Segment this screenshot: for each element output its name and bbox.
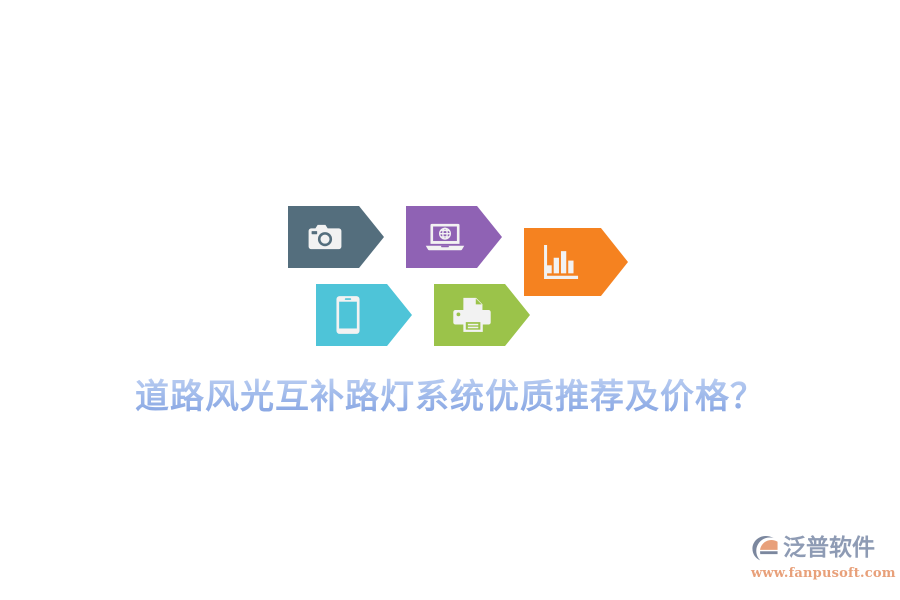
chevron-printer — [434, 284, 530, 346]
laptop-globe-icon — [406, 206, 502, 268]
bar-chart-icon — [524, 228, 628, 296]
watermark: 泛普软件 www.fanpusoft.com — [750, 530, 886, 588]
watermark-brand-text: 泛普软件 — [783, 533, 875, 563]
chevron-camera — [288, 206, 384, 268]
chevron-icon-cluster — [288, 206, 628, 356]
page-canvas: 道路风光互补路灯系统优质推荐及价格？ 泛普软件 www.fanpusoft.co… — [0, 0, 900, 600]
fanpu-logo-icon — [750, 533, 780, 563]
smartphone-icon — [316, 284, 412, 346]
chevron-laptop — [406, 206, 502, 268]
watermark-url-text: www.fanpusoft.com — [750, 566, 886, 582]
watermark-brand-row: 泛普软件 — [750, 530, 886, 566]
camera-icon — [288, 206, 384, 268]
chevron-chart — [524, 228, 628, 296]
page-title: 道路风光互补路灯系统优质推荐及价格？ — [0, 374, 900, 420]
chevron-phone — [316, 284, 412, 346]
printer-icon — [434, 284, 530, 346]
